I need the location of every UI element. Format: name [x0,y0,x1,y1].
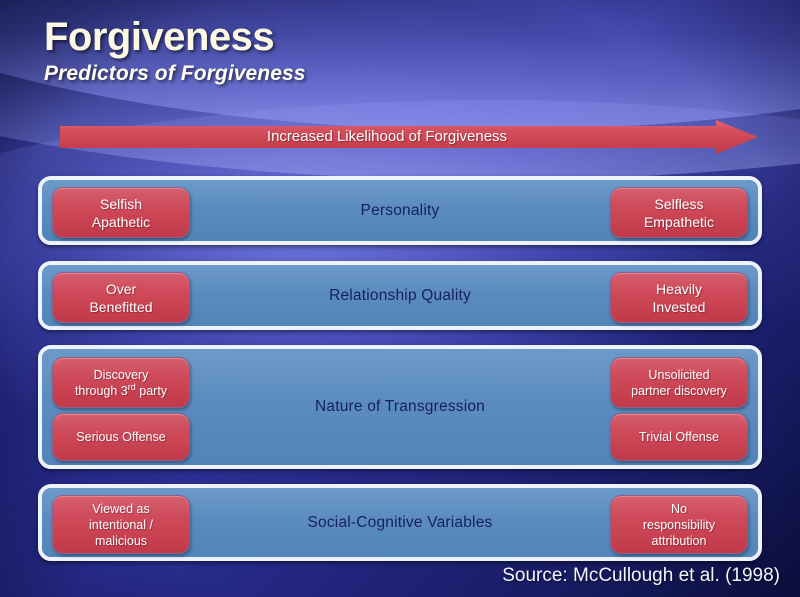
chip-discovery-through-third-party[interactable]: Discovery through 3rd party [52,357,190,408]
chip-line: Over [106,280,136,298]
chip-line: responsibility [643,517,715,533]
chip-line: attribution [652,533,707,549]
chip-line: partner discovery [631,383,727,399]
chip-heavily-invested[interactable]: Heavily Invested [610,272,748,323]
page-subtitle: Predictors of Forgiveness [44,61,306,87]
chip-no-responsibility-attribution[interactable]: No responsibility attribution [610,495,748,554]
arrow-label: Increased Likelihood of Forgiveness [60,127,714,147]
chip-line: malicious [95,533,147,549]
chip-line: Invested [653,298,706,316]
source-citation: Source: McCullough et al. (1998) [502,563,780,589]
chip-line: Empathetic [644,213,714,231]
predictor-row-social-cognitive-variables[interactable]: Viewed as intentional / malicious Social… [38,484,762,561]
chip-line: intentional / [89,517,153,533]
predictor-row-personality[interactable]: Selfish Apathetic Personality Selfless E… [38,176,762,245]
chip-line: Heavily [656,280,702,298]
chip-viewed-as-intentional-malicious[interactable]: Viewed as intentional / malicious [52,495,190,554]
predictor-row-relationship-quality[interactable]: Over Benefitted Relationship Quality Hea… [38,261,762,330]
ordinal-suffix: rd [128,381,136,391]
chip-over-benefitted[interactable]: Over Benefitted [52,272,190,323]
chip-line: Serious Offense [76,429,165,445]
chip-trivial-offense[interactable]: Trivial Offense [610,413,748,461]
chip-line: Viewed as [92,501,149,517]
chip-line: Trivial Offense [639,429,719,445]
chip-line: Discovery [94,367,149,383]
chip-line: Selfless [654,195,703,213]
slide-canvas: Forgiveness Predictors of Forgiveness In… [0,0,800,597]
chip-line: Benefitted [89,298,152,316]
chip-serious-offense[interactable]: Serious Offense [52,413,190,461]
chip-selfless-empathetic[interactable]: Selfless Empathetic [610,187,748,238]
chip-unsolicited-partner-discovery[interactable]: Unsolicited partner discovery [610,357,748,408]
page-title: Forgiveness [44,14,306,60]
chip-line: No [671,501,687,517]
chip-line: Selfish [100,195,142,213]
slide-header: Forgiveness Predictors of Forgiveness [44,14,306,87]
chip-line: Apathetic [92,213,150,231]
chip-selfish-apathetic[interactable]: Selfish Apathetic [52,187,190,238]
chip-line-superscripted: through 3rd party [75,383,167,399]
increased-likelihood-arrow: Increased Likelihood of Forgiveness [60,120,758,154]
chip-line: Unsolicited [648,367,709,383]
predictor-row-nature-of-transgression[interactable]: Discovery through 3rd party Serious Offe… [38,345,762,469]
